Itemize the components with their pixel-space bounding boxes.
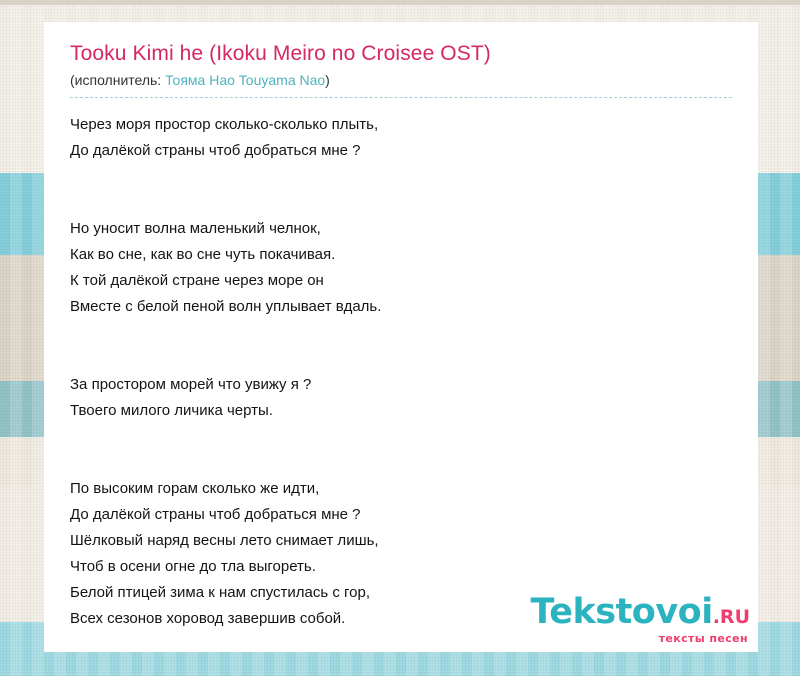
lyric-spacer (70, 424, 732, 450)
lyric-line: До далёкой страны чтоб добраться мне ? (70, 502, 732, 528)
page-root: Tooku Kimi he (Ikoku Meiro no Croisee OS… (0, 0, 800, 676)
performer-close-paren: ) (325, 72, 330, 88)
performer-link[interactable]: Тояма Нао Touyama Nao (165, 72, 325, 88)
lyric-spacer (70, 346, 732, 372)
logo-tld: .RU (713, 608, 750, 627)
lyric-line: Но уносит волна маленький челнок, (70, 216, 732, 242)
logo-wordmark: Tekstovoi (531, 595, 713, 630)
lyric-line: Шёлковый наряд весны лето снимает лишь, (70, 528, 732, 554)
lyric-line: За простором морей что увижу я ? (70, 372, 732, 398)
lyrics-body: Через моря простор сколько-сколько плыть… (70, 112, 732, 652)
lyric-spacer (70, 164, 732, 190)
logo-tagline: тексты песен (531, 633, 751, 644)
lyric-line: Как во сне, как во сне чуть покачивая. (70, 242, 732, 268)
lyric-spacer (70, 320, 732, 346)
lyric-line: До далёкой страны чтоб добраться мне ? (70, 138, 732, 164)
logo-wordmark-row: Tekstovoi.RU (531, 595, 751, 630)
lyrics-card: Tooku Kimi he (Ikoku Meiro no Croisee OS… (44, 22, 758, 652)
lyric-line: По высоким горам сколько же идти, (70, 476, 732, 502)
page-title: Tooku Kimi he (Ikoku Meiro no Croisee OS… (70, 40, 732, 70)
site-logo[interactable]: Tekstovoi.RU тексты песен (531, 595, 751, 644)
lyric-line: К той далёкой стране через море он (70, 268, 732, 294)
lyric-line: Твоего милого личика черты. (70, 398, 732, 424)
background-top-edge (0, 0, 800, 5)
lyric-line: Через моря простор сколько-сколько плыть… (70, 112, 732, 138)
lyric-line: Чтоб в осени огне до тла выгореть. (70, 554, 732, 580)
lyric-spacer (70, 190, 732, 216)
performer-line: (исполнитель: Тояма Нао Touyama Nao) (70, 70, 732, 98)
lyric-line: Вместе с белой пеной волн уплывает вдаль… (70, 294, 732, 320)
lyric-spacer (70, 450, 732, 476)
performer-label: (исполнитель: (70, 72, 165, 88)
